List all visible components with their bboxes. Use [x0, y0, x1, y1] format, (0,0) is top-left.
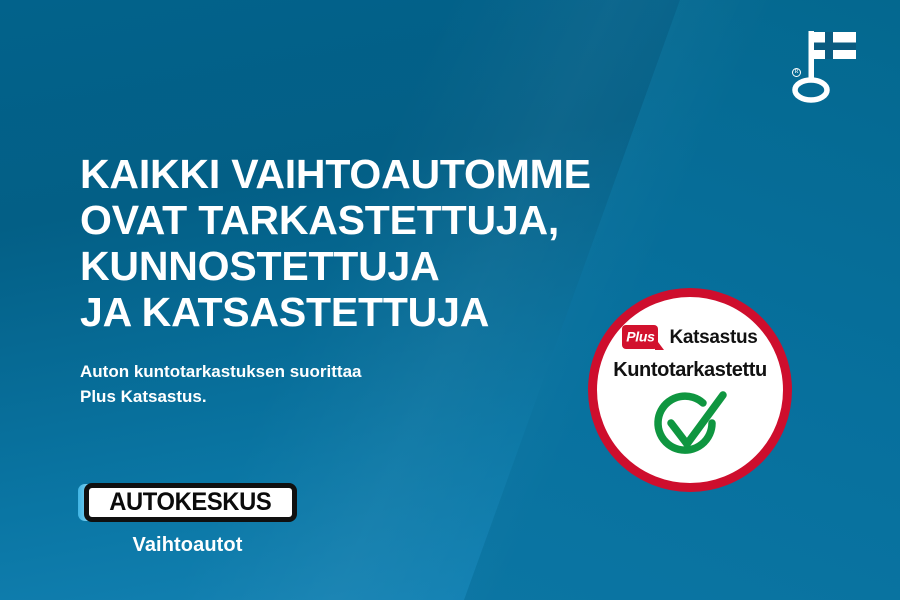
autokeskus-vaihtoautot-banner: R KAIKKI VAIHTOAUTOMME OVAT TARKASTETTUJ… — [0, 0, 900, 600]
plus-logo-icon: Plus — [622, 325, 658, 349]
green-check-circle-icon — [649, 389, 731, 461]
logo-wordmark: AUTOKESKUS — [109, 490, 271, 516]
logo-plate: AUTOKESKUS — [78, 483, 297, 522]
logo-plate-body: AUTOKESKUS — [84, 483, 297, 522]
badge-brand-row: Plus Katsastus — [622, 325, 757, 349]
registered-trademark-icon: R — [792, 68, 801, 77]
page-title: KAIKKI VAIHTOAUTOMME OVAT TARKASTETTUJA,… — [80, 151, 680, 335]
avainlippu-key-flag-icon — [786, 22, 858, 104]
subtitle-text: Auton kuntotarkastuksen suorittaa Plus K… — [80, 359, 500, 409]
badge-brand-label: Katsastus — [669, 328, 757, 347]
plus-logo-label: Plus — [626, 330, 654, 344]
status-badge: Plus Katsastus Kuntotarkastettu — [588, 288, 792, 492]
autokeskus-logo[interactable]: AUTOKESKUS Vaihtoautot — [78, 483, 310, 557]
logo-subtitle: Vaihtoautot — [78, 534, 297, 557]
badge-claim-label: Kuntotarkastettu — [613, 360, 767, 380]
